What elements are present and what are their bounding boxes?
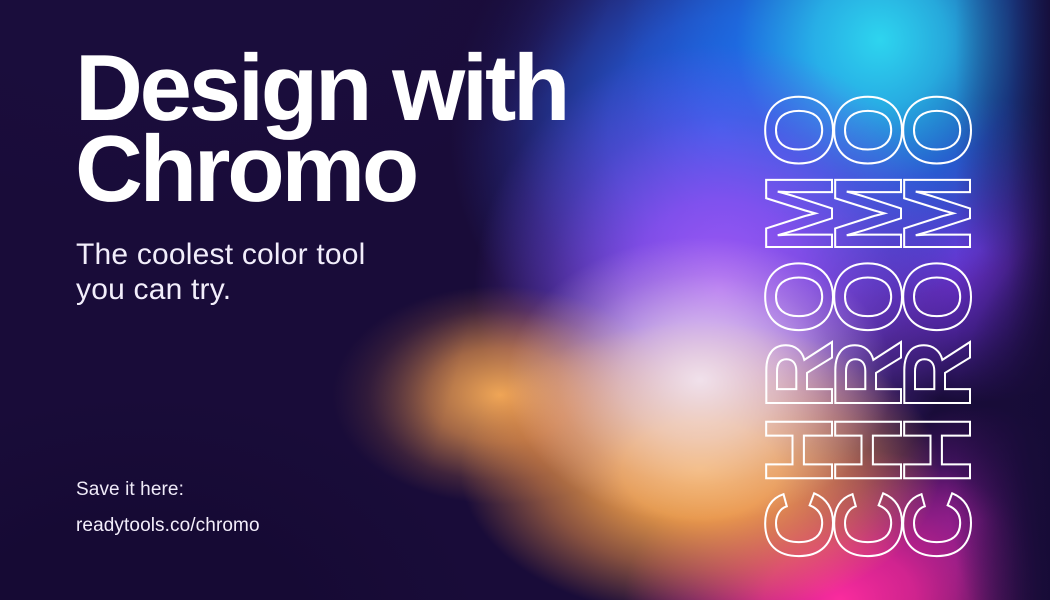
wordmark-column-3: CHROMO — [884, 87, 991, 560]
chromo-outline-wordmark: CHROMO CHROMO CHROMO — [762, 40, 982, 560]
content-column: Design with Chromo The coolest color too… — [75, 0, 715, 600]
chromo-url-link[interactable]: readytools.co/chromo — [76, 501, 260, 537]
footer-block: Save it here: readytools.co/chromo — [76, 479, 260, 537]
subheadline: The coolest color tool you can try. — [76, 238, 366, 308]
save-it-here-label: Save it here: — [76, 479, 260, 501]
promo-banner: CHROMO CHROMO CHROMO Design with Chromo … — [0, 0, 1050, 600]
headline: Design with Chromo — [75, 48, 567, 210]
